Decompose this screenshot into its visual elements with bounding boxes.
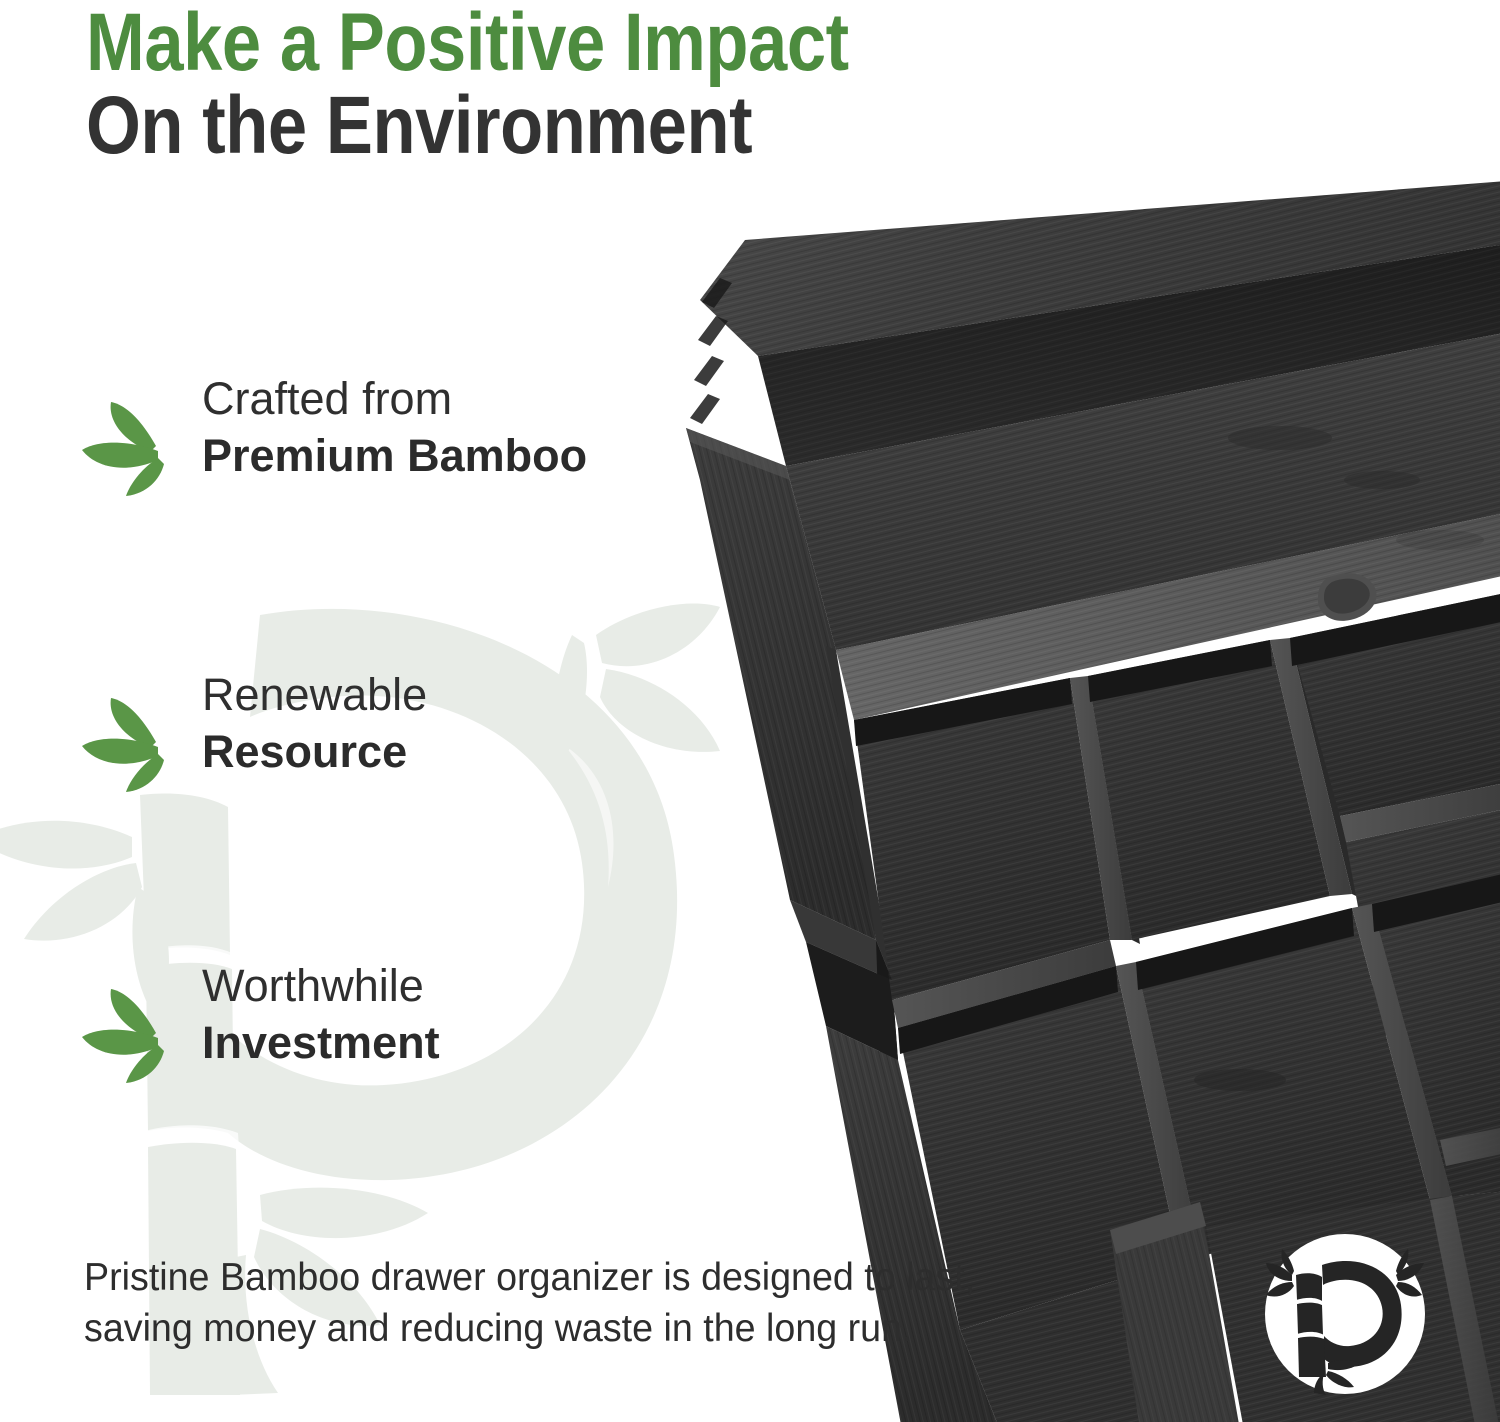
benefit-item-renewable-resource: Renewable Resource	[78, 668, 778, 794]
benefit-item-worthwhile-investment: Worthwhile Investment	[78, 959, 778, 1085]
benefit-label-bottom: Resource	[202, 725, 427, 780]
benefit-label-bottom: Premium Bamboo	[202, 429, 587, 484]
benefit-label-top: Renewable	[202, 668, 427, 723]
headline-block: Make a Positive Impact On the Environmen…	[86, 4, 973, 164]
caption-line-2: saving money and reducing waste in the l…	[84, 1303, 1059, 1354]
benefit-label-bottom: Investment	[202, 1016, 440, 1071]
benefit-text: Crafted from Premium Bamboo	[202, 372, 587, 484]
headline-line-2: On the Environment	[86, 87, 849, 164]
caption-block: Pristine Bamboo drawer organizer is desi…	[84, 1252, 1059, 1355]
benefit-text: Renewable Resource	[202, 668, 427, 780]
bamboo-leaf-sprig-icon	[78, 981, 182, 1085]
benefits-list: Crafted from Premium Bamboo Renewable Re…	[78, 372, 778, 1085]
marketing-image-canvas: Make a Positive Impact On the Environmen…	[0, 0, 1500, 1422]
bamboo-leaf-sprig-icon	[78, 690, 182, 794]
benefit-label-top: Worthwhile	[202, 959, 440, 1014]
pristine-bamboo-p-logo	[1262, 1231, 1428, 1397]
benefit-label-top: Crafted from	[202, 372, 587, 427]
caption-line-1: Pristine Bamboo drawer organizer is desi…	[84, 1252, 1059, 1303]
benefit-text: Worthwhile Investment	[202, 959, 440, 1071]
benefit-item-premium-bamboo: Crafted from Premium Bamboo	[78, 372, 778, 498]
headline-line-1: Make a Positive Impact	[86, 4, 849, 81]
bamboo-leaf-sprig-icon	[78, 394, 182, 498]
